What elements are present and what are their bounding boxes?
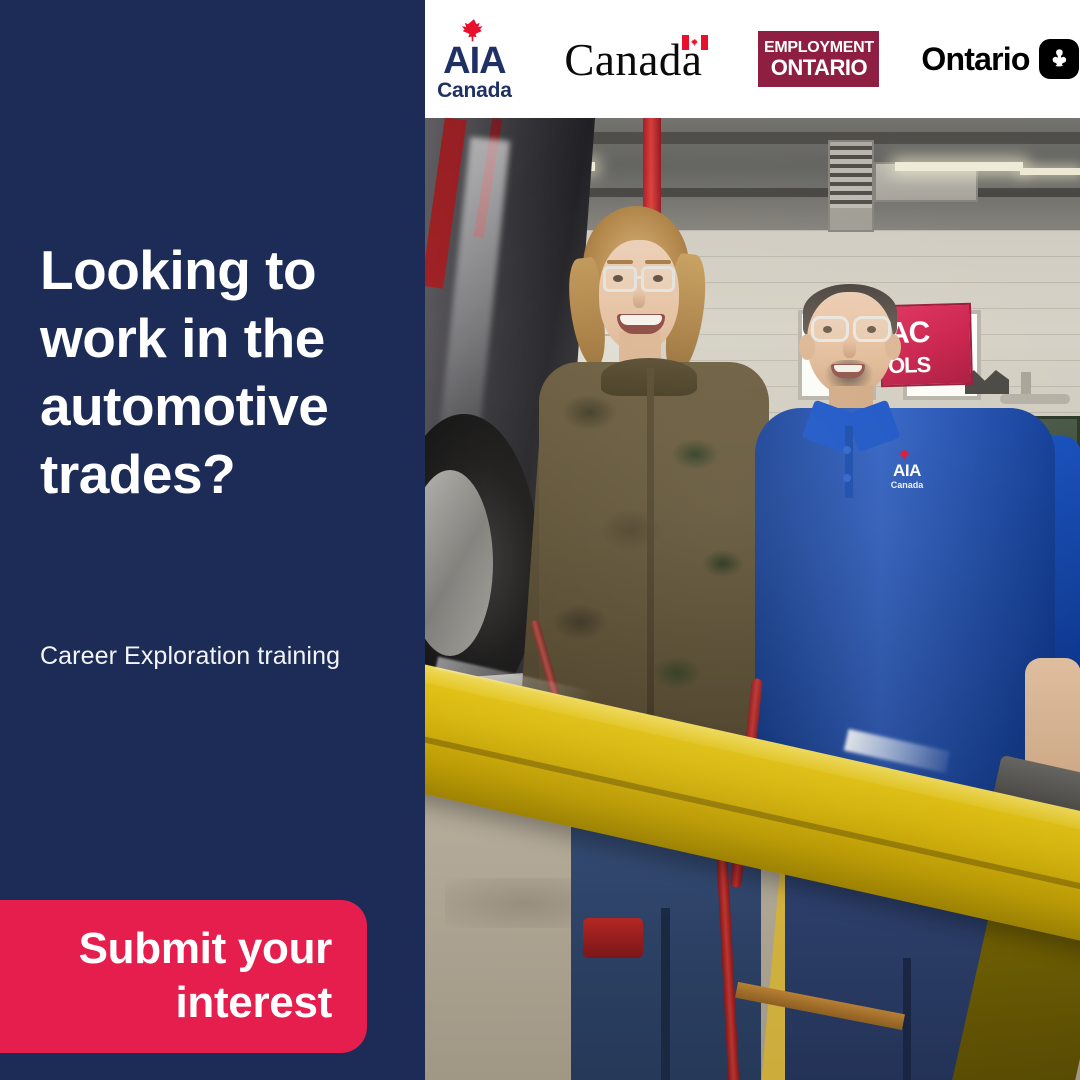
safety-glasses-icon: [603, 266, 637, 292]
aia-mark: AIA: [426, 42, 522, 80]
fluorescent-light: [895, 162, 1023, 171]
employment-ontario-logo[interactable]: EMPLOYMENT ONTARIO: [758, 31, 879, 87]
hvac-vent-slats: [830, 146, 872, 208]
canada-flag-icon: [682, 35, 708, 50]
instructor-teeth: [834, 365, 862, 372]
polo-aia-mark: AIA: [877, 462, 937, 480]
ontario-wordmark: Ontario: [921, 42, 1029, 76]
apprentice-eyebrow: [607, 260, 633, 264]
apprentice-teeth: [620, 315, 662, 325]
apprentice-jacket-zipper: [647, 368, 654, 770]
employment-ontario-line1: EMPLOYMENT: [764, 39, 874, 56]
instructor-polo-button: [843, 474, 851, 482]
apprentice-nose: [633, 290, 645, 308]
partner-logo-band: AIA Canada Canada EMPLOYMENT: [425, 0, 1080, 118]
hero-photo: AC OLS: [425, 118, 1080, 1080]
shop-pipe: [1000, 394, 1070, 404]
right-column: AC OLS: [425, 0, 1080, 1080]
page-title: Looking to work in the automotive trades…: [40, 236, 400, 508]
aia-canada-logo[interactable]: AIA Canada: [426, 16, 522, 102]
shop-banner-line2: OLS: [888, 353, 971, 377]
polo-aia-subtext: Canada: [877, 480, 937, 490]
safety-glasses-icon: [641, 266, 675, 292]
submit-interest-button[interactable]: Submit your interest: [0, 900, 367, 1053]
safety-glasses-icon: [811, 316, 849, 342]
instructor-polo-placket: [845, 426, 853, 498]
government-of-canada-wordmark[interactable]: Canada: [564, 31, 716, 87]
fluorescent-light: [1020, 168, 1080, 175]
trillium-icon: [1046, 46, 1072, 72]
left-navy-panel: Looking to work in the automotive trades…: [0, 0, 425, 1080]
flag-maple-leaf-icon: [691, 38, 700, 47]
apprentice-eyebrow: [645, 260, 671, 264]
red-floor-jack: [583, 918, 643, 958]
ontario-logo[interactable]: Ontario: [921, 31, 1078, 87]
advertisement-canvas: AC OLS: [0, 0, 1080, 1080]
employment-ontario-line2: ONTARIO: [771, 56, 867, 79]
safety-glasses-bridge: [636, 276, 644, 279]
subtitle: Career Exploration training: [40, 640, 410, 672]
instructor-nose: [843, 340, 856, 358]
instructor-jeans-seam: [903, 958, 911, 1080]
apprentice-jeans-seam: [661, 908, 670, 1080]
safety-glasses-icon: [853, 316, 891, 342]
instructor-polo-button: [843, 446, 851, 454]
ontario-badge: [1039, 39, 1079, 79]
aia-subtext: Canada: [426, 80, 522, 102]
